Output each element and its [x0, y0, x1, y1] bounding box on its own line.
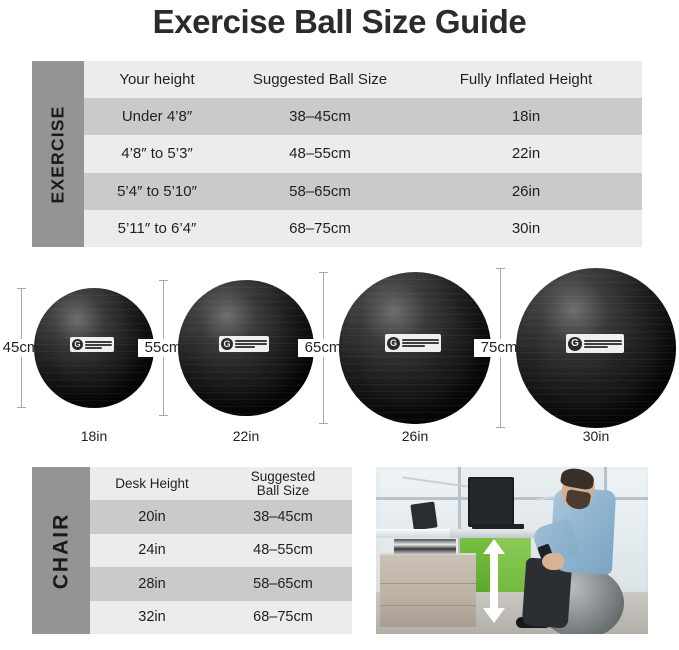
chair-cell-desk-height: 32in [90, 609, 214, 625]
chair-cell-desk-height: 28in [90, 576, 214, 592]
exercise-cell-ball-size: 48–55cm [230, 145, 410, 162]
exercise-header-ball-size: Suggested Ball Size [230, 71, 410, 88]
exercise-cell-height: 4’8″ to 5’3″ [84, 145, 230, 162]
ball-brand-logo: G [385, 334, 441, 352]
chair-size-table: CHAIR Desk Height Suggested Ball Size 20… [32, 467, 352, 634]
chair-cell-ball-size: 68–75cm [214, 609, 352, 625]
table-row: 32in 68–75cm [90, 601, 352, 634]
photo-person-hand [542, 553, 564, 570]
chair-header-desk-height: Desk Height [90, 477, 214, 491]
brand-g-icon: G [387, 337, 400, 350]
photo-height-arrow-icon [483, 539, 505, 623]
photo-desk-cabinet [380, 553, 476, 627]
ball-size-illustrations: 45cm G 18in 55cm G 22in 65cm G [0, 268, 679, 458]
exercise-ball-26in: G [339, 272, 491, 424]
exercise-table-header-row: Your height Suggested Ball Size Fully In… [84, 61, 642, 98]
photo-secondary-monitor [410, 501, 437, 530]
chair-cell-ball-size: 58–65cm [214, 576, 352, 592]
exercise-cell-inflated: 18in [410, 108, 642, 125]
office-ball-chair-photo [376, 467, 648, 634]
brand-g-icon: G [568, 337, 582, 351]
chair-side-label: CHAIR [32, 467, 90, 634]
chair-header-ball-size: Suggested Ball Size [214, 470, 352, 498]
ball-caption-26in: 26in [365, 428, 465, 444]
brand-text-lines [85, 341, 112, 349]
chair-table-grid: Desk Height Suggested Ball Size 20in 38–… [90, 467, 352, 634]
ball-caption-18in: 18in [44, 428, 144, 444]
exercise-header-inflated-height: Fully Inflated Height [410, 71, 642, 88]
table-row: 28in 58–65cm [90, 567, 352, 600]
chair-side-label-text: CHAIR [49, 512, 73, 589]
ball-brand-logo: G [566, 334, 624, 353]
exercise-cell-ball-size: 38–45cm [230, 108, 410, 125]
exercise-cell-height: 5’4″ to 5’10″ [84, 183, 230, 200]
exercise-cell-height: 5’11″ to 6’4″ [84, 220, 230, 237]
photo-books-stack [394, 539, 456, 555]
brand-text-lines [584, 340, 622, 348]
table-row: Under 4’8″ 38–45cm 18in [84, 98, 642, 135]
exercise-side-label: EXERCISE [32, 61, 84, 247]
exercise-header-your-height: Your height [84, 71, 230, 88]
exercise-table-grid: Your height Suggested Ball Size Fully In… [84, 61, 642, 247]
brand-g-icon: G [72, 339, 83, 350]
chair-header-ball-size-line2: Ball Size [216, 484, 350, 498]
chair-cell-desk-height: 20in [90, 509, 214, 525]
exercise-size-table: EXERCISE Your height Suggested Ball Size… [32, 61, 642, 247]
exercise-cell-ball-size: 68–75cm [230, 220, 410, 237]
photo-monitor [468, 477, 514, 527]
table-row: 20in 38–45cm [90, 500, 352, 533]
ball-unit-18in: G [34, 288, 154, 408]
ball-brand-logo: G [70, 337, 114, 352]
photo-cabinet-seam [380, 583, 476, 584]
ball-brand-logo: G [219, 336, 269, 352]
ball-unit-30in: G [516, 268, 676, 428]
ball-caption-22in: 22in [196, 428, 296, 444]
chair-table-header-row: Desk Height Suggested Ball Size [90, 467, 352, 500]
exercise-cell-ball-size: 58–65cm [230, 183, 410, 200]
brand-g-icon: G [221, 338, 233, 350]
table-row: 5’11″ to 6’4″ 68–75cm 30in [84, 210, 642, 247]
page-title: Exercise Ball Size Guide [0, 2, 679, 42]
exercise-cell-inflated: 22in [410, 145, 642, 162]
brand-text-lines [402, 339, 439, 347]
table-row: 4’8″ to 5’3″ 48–55cm 22in [84, 135, 642, 172]
exercise-ball-18in: G [34, 288, 154, 408]
table-row: 5’4″ to 5’10″ 58–65cm 26in [84, 173, 642, 210]
exercise-cell-inflated: 26in [410, 183, 642, 200]
chair-cell-ball-size: 38–45cm [214, 509, 352, 525]
exercise-side-label-text: EXERCISE [48, 105, 69, 203]
chair-cell-ball-size: 48–55cm [214, 542, 352, 558]
exercise-ball-22in: G [178, 280, 314, 416]
brand-text-lines [235, 340, 267, 348]
exercise-cell-inflated: 30in [410, 220, 642, 237]
chair-cell-desk-height: 24in [90, 542, 214, 558]
exercise-cell-height: Under 4’8″ [84, 108, 230, 125]
ball-unit-22in: G [178, 280, 314, 416]
chair-header-ball-size-line1: Suggested [216, 470, 350, 484]
table-row: 24in 48–55cm [90, 534, 352, 567]
ball-caption-30in: 30in [546, 428, 646, 444]
ball-unit-26in: G [339, 272, 491, 424]
exercise-ball-30in: G [516, 268, 676, 428]
photo-cabinet-seam [380, 605, 476, 606]
